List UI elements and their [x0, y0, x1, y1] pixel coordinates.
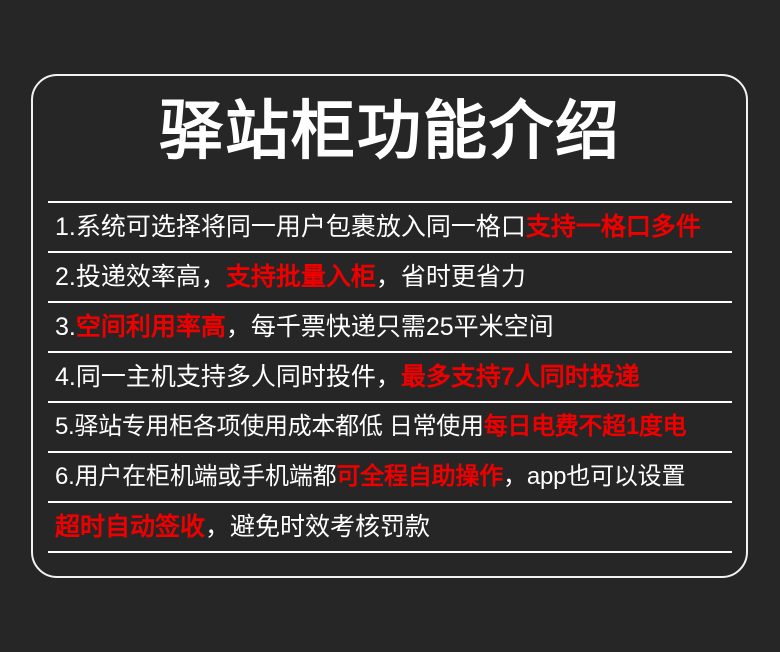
highlight-text: 每日电费不超1度电	[484, 412, 687, 442]
body-text: 4.同一主机支持多人同时投件，	[55, 362, 401, 392]
list-item: 超时自动签收，避免时效考核罚款	[48, 503, 732, 551]
body-text: ，避免时效考核罚款	[205, 512, 430, 542]
poster-root: 驿站柜功能介绍 1.系统可选择将同一用户包裹放入同一格口 支持一格口多件 2.投…	[0, 0, 780, 652]
feature-list: 1.系统可选择将同一用户包裹放入同一格口 支持一格口多件 2.投递效率高，支持批…	[48, 201, 732, 553]
highlight-text: 可全程自助操作	[336, 462, 503, 492]
body-text: 1.系统可选择将同一用户包裹放入同一格口	[55, 212, 526, 242]
body-text: ，app也可以设置	[503, 462, 685, 492]
list-item: 2.投递效率高，支持批量入柜，省时更省力	[48, 253, 732, 301]
list-item: 3.空间利用率高，每千票快递只需25平米空间	[48, 303, 732, 351]
list-divider	[48, 551, 732, 553]
body-text: 5.驿站专用柜各项使用成本都低 日常使用	[55, 412, 484, 442]
highlight-text: 空间利用率高	[76, 312, 226, 342]
body-text: 6.用户在柜机端或手机端都	[55, 462, 336, 492]
body-text: ，省时更省力	[376, 262, 526, 292]
page-title: 驿站柜功能介绍	[0, 92, 780, 170]
highlight-text: 超时自动签收	[55, 512, 205, 542]
body-text: ，每千票快递只需25平米空间	[226, 312, 554, 342]
highlight-text: 最多支持7人同时投递	[401, 362, 640, 392]
highlight-text: 支持一格口多件	[526, 212, 701, 242]
highlight-text: 支持批量入柜	[226, 262, 376, 292]
body-text: 3.	[55, 312, 76, 342]
body-text: 2.投递效率高，	[55, 262, 226, 292]
list-item: 1.系统可选择将同一用户包裹放入同一格口 支持一格口多件	[48, 203, 732, 251]
list-item: 6.用户在柜机端或手机端都可全程自助操作，app也可以设置	[48, 453, 732, 501]
list-item: 5.驿站专用柜各项使用成本都低 日常使用每日电费不超1度电	[48, 403, 732, 451]
list-item: 4.同一主机支持多人同时投件，最多支持7人同时投递	[48, 353, 732, 401]
